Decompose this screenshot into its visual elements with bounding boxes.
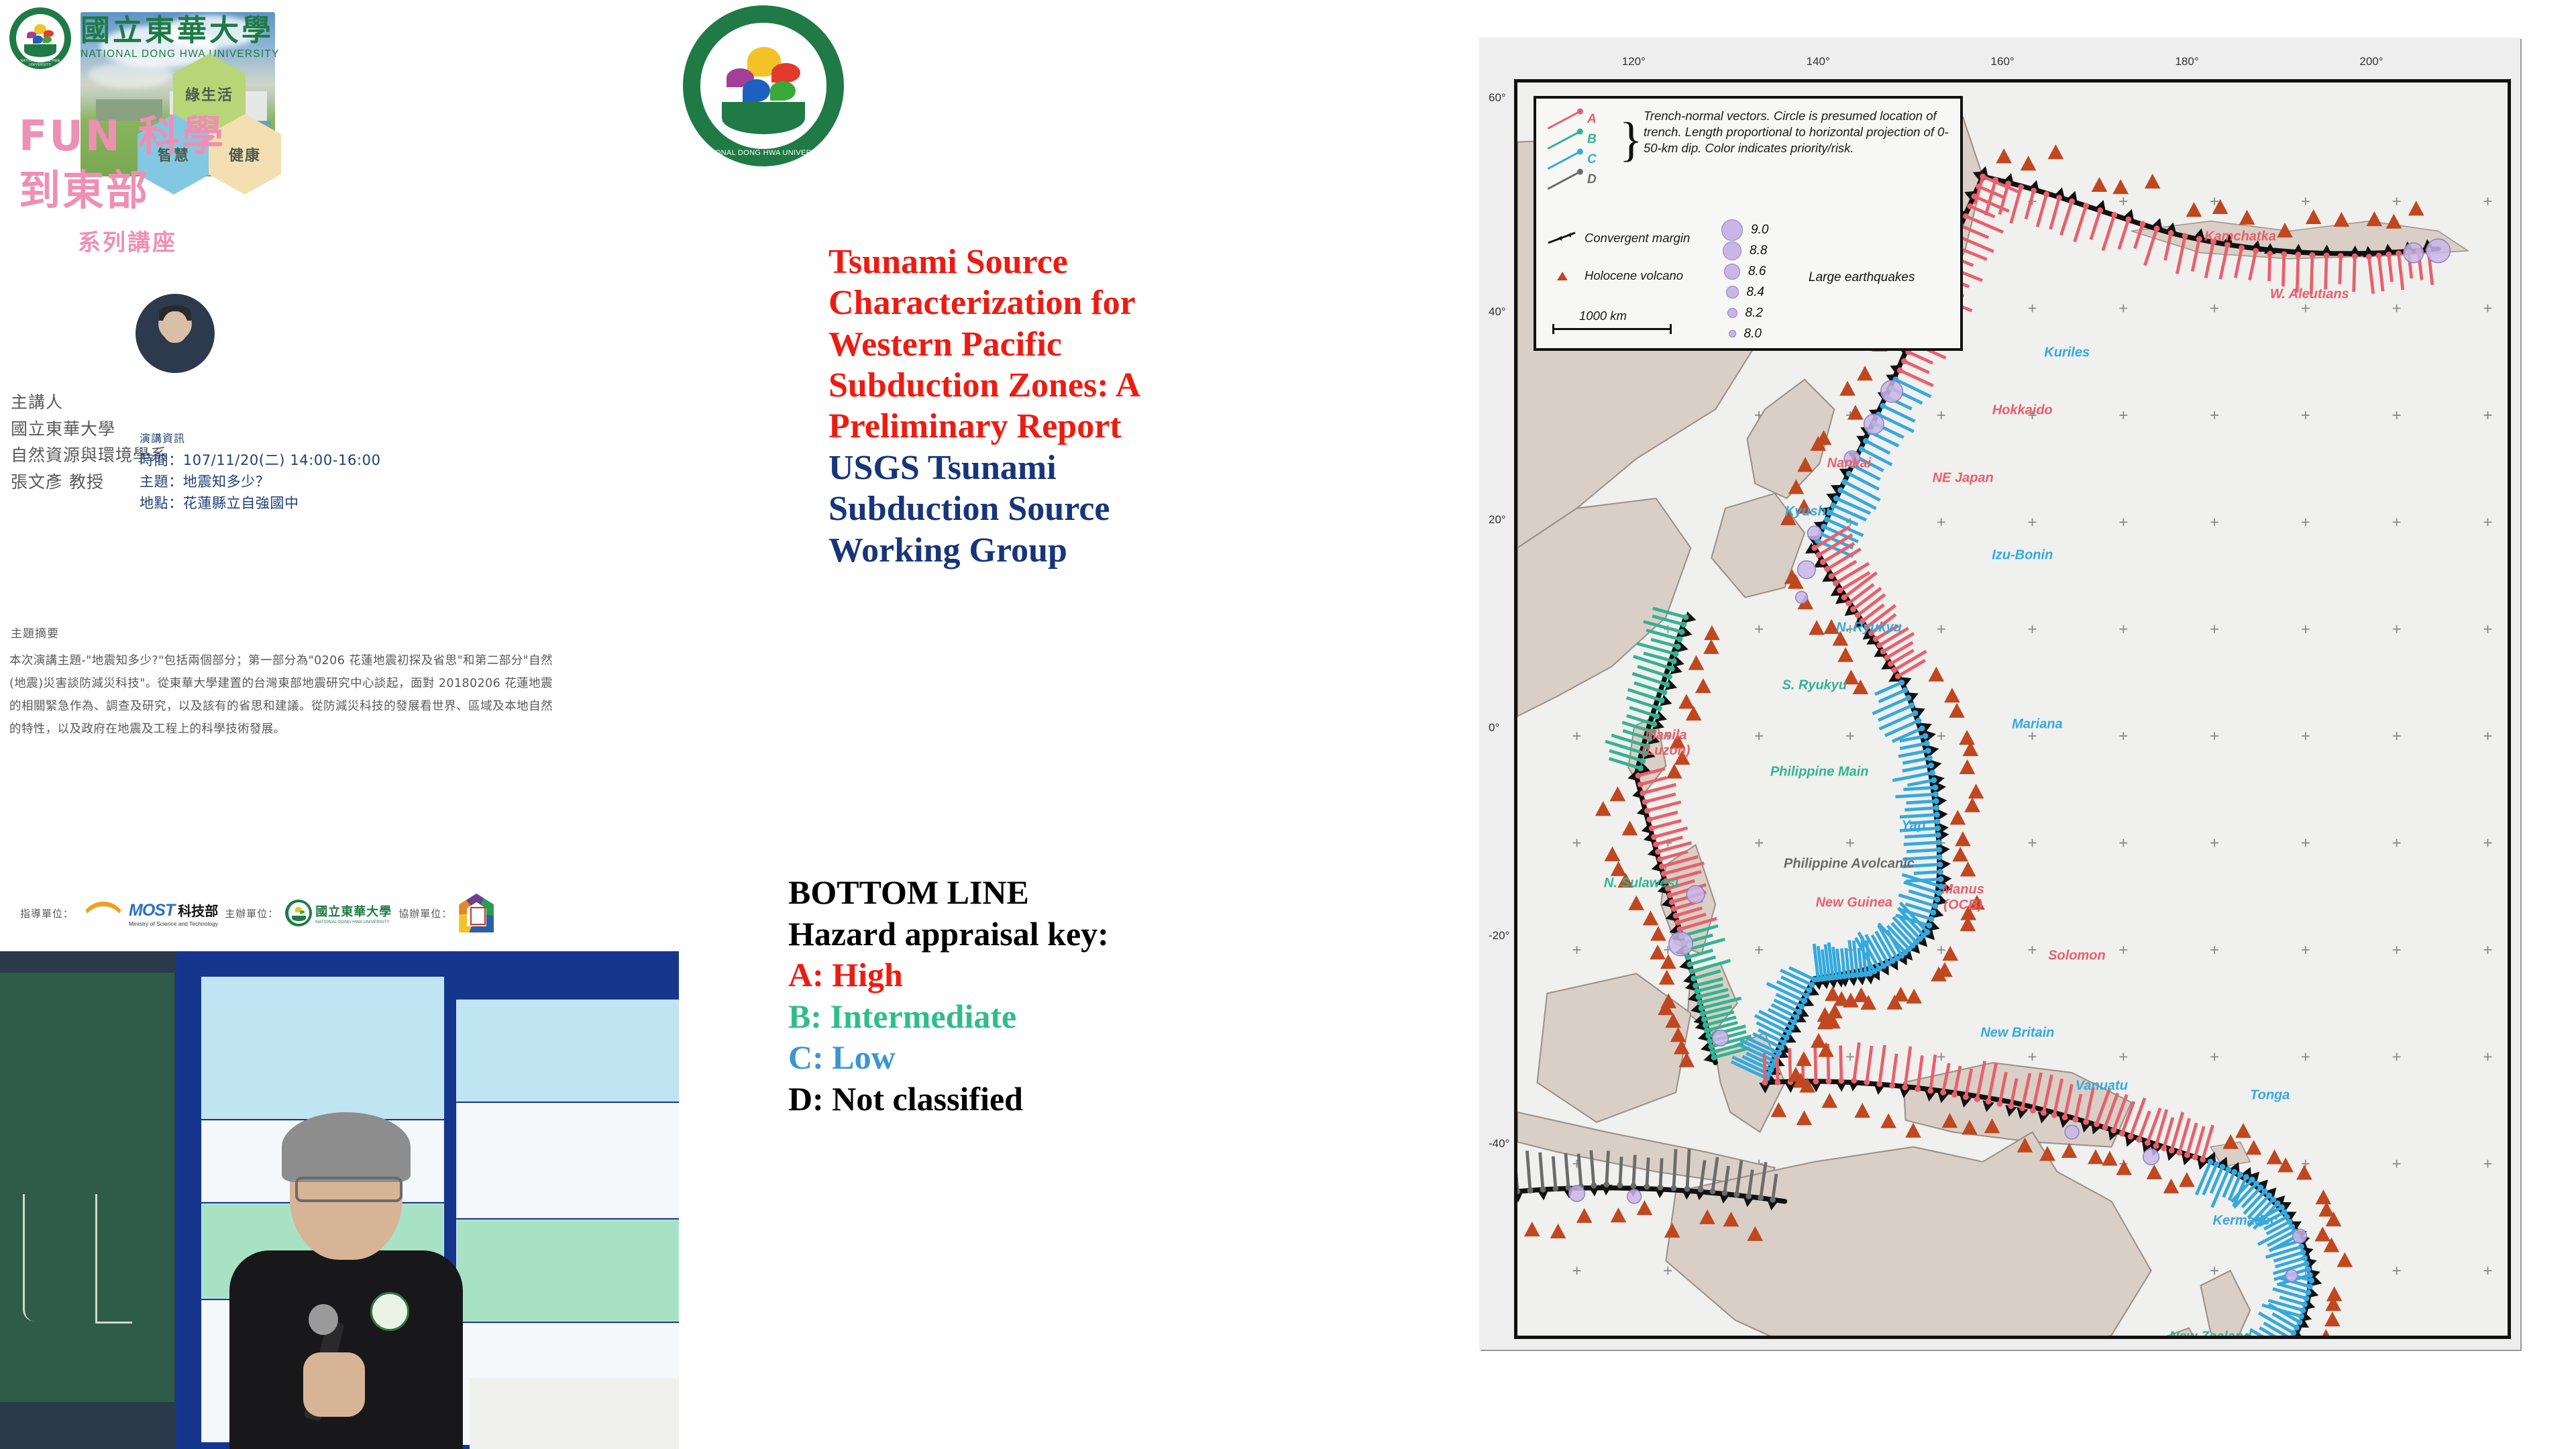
talk-info-block: 演講資訊 時間：107/11/20(二) 14:00-16:00 主題：地震知多… <box>140 429 394 515</box>
legend-class-b: B <box>1546 129 1621 150</box>
legend-large-earthquakes-label: Large earthquakes <box>1809 270 1915 285</box>
lon-tick: 200° <box>2359 55 2383 68</box>
guide-unit-label: 指導單位： <box>20 906 74 920</box>
legend-description: Trench-normal vectors. Circle is presume… <box>1644 108 1959 156</box>
poster-title-line1: FUN 科學 <box>19 114 327 158</box>
map-label: Mariana <box>2012 716 2063 732</box>
legend-class-a: A <box>1546 109 1621 129</box>
ndhu-seal-icon: NATIONAL DONG HWA UNIVERSITY <box>9 7 71 69</box>
hazard-key-row-c: C: Low <box>788 1037 1338 1079</box>
abstract-heading: 主題摘要 <box>11 624 59 641</box>
poster-panel <box>456 1103 679 1218</box>
legend-class-code: C <box>1587 152 1597 167</box>
map-label: W. Aleutians <box>2270 287 2349 303</box>
university-name-cn: 國立東華大學 <box>80 16 280 46</box>
hazard-code-c: C: <box>788 1038 824 1076</box>
lat-tick: 40° <box>1489 305 1506 319</box>
lon-tick: 180° <box>2175 55 2198 68</box>
title-line-2: Characterization for <box>828 282 1358 323</box>
hazard-label-d: Not classified <box>832 1080 1023 1118</box>
title-line-1: Tsunami Source <box>828 241 1358 282</box>
lat-tick: -20° <box>1489 929 1509 943</box>
sponsor-row: 指導單位： MOST 科技部 Ministry of Science and T… <box>20 892 678 934</box>
legend-magnitude-row: 8.0 <box>1721 323 1768 344</box>
poster-title-line3: 系列講座 <box>78 224 327 257</box>
subduction-zone-map-figure: 120°140°160°180°200° 60°40°20°0°-20°-40° <box>1479 38 2520 1350</box>
magnitude-value: 8.6 <box>1748 264 1766 279</box>
legend-class-d: D <box>1546 170 1621 190</box>
speaker-avatar <box>136 294 215 373</box>
talk-info-heading: 演講資訊 <box>140 429 394 445</box>
map-legend: A B C D } Trench-normal vectors. Circle … <box>1534 96 1963 351</box>
legend-magnitude-row: 8.8 <box>1721 240 1768 261</box>
subtitle-line-2: Subduction Source <box>828 488 1358 529</box>
host-logo: 國立東華大學 NATIONAL DONG HWA UNIVERSITY <box>285 900 392 926</box>
map-label: New Guinea <box>1816 895 1892 910</box>
seal-large-text: NATIONAL DONG HWA UNIVERSITY <box>683 149 844 157</box>
legend-class-code: A <box>1587 112 1597 127</box>
map-label: Kermadec <box>2213 1214 2278 1229</box>
hazard-code-a: A: <box>788 956 824 994</box>
legend-convergent-margin-label: Convergent margin <box>1585 230 1690 246</box>
magnitude-value: 8.2 <box>1746 306 1763 321</box>
bottom-line-heading: BOTTOM LINE <box>788 872 1338 914</box>
magnitude-circle-icon <box>1721 219 1743 241</box>
bottom-line-block: BOTTOM LINE Hazard appraisal key: A: Hig… <box>788 872 1338 1120</box>
legend-holocene-volcano-label: Holocene volcano <box>1585 268 1683 284</box>
map-label: N. Sulawesi <box>1604 875 1678 891</box>
magnitude-value: 8.4 <box>1747 285 1764 300</box>
hazard-label-b: Intermediate <box>830 998 1017 1035</box>
hazard-label-a: High <box>832 956 903 994</box>
magnitude-value: 9.0 <box>1751 223 1768 237</box>
map-label: Philippine Avolcanic <box>1784 857 1915 872</box>
cohost-unit-label: 協辦單位： <box>398 906 452 920</box>
hazard-code-b: B: <box>788 998 822 1035</box>
legend-scale-bar: 1000 km <box>1552 308 1672 330</box>
map-label: S. Ryukyu <box>1782 678 1847 693</box>
school-logo-icon <box>459 894 494 932</box>
map-label: Kuriles <box>2044 345 2090 360</box>
poster-panel <box>201 977 444 1119</box>
seal-text: NATIONAL DONG HWA UNIVERSITY <box>9 59 71 67</box>
whiteboard <box>470 1378 679 1449</box>
lon-tick: 140° <box>1807 55 1830 68</box>
hazard-key-row-a: A: High <box>788 955 1338 996</box>
map-label: Nankai <box>1827 456 1872 472</box>
shirt-badge-icon <box>370 1292 409 1331</box>
abstract-body: 本次演講主題-"地震知多少?"包括兩個部分；第一部分為"0206 花蓮地震初探及… <box>9 649 553 741</box>
legend-magnitude-row: 9.0 <box>1721 219 1768 240</box>
map-label: Manus(OCB) <box>1942 882 1984 913</box>
magnitude-circle-icon <box>1723 241 1741 260</box>
magnitude-value: 8.8 <box>1750 244 1767 258</box>
chalkboard <box>0 973 174 1402</box>
poster-title-line2: 到東部 <box>19 168 327 212</box>
map-label: NE Japan <box>1933 470 1994 486</box>
magnitude-circle-icon <box>1729 330 1736 337</box>
talk-place: 地點：花蓮縣立自強國中 <box>140 493 394 515</box>
magnitude-value: 8.0 <box>1744 327 1762 341</box>
volcano-icon <box>1557 272 1568 280</box>
hazard-key-row-b: B: Intermediate <box>788 996 1338 1038</box>
map-label: Vanuatu <box>2076 1078 2128 1093</box>
host-name-en: NATIONAL DONG HWA UNIVERSITY <box>315 920 392 924</box>
map-label: Kamchatka <box>2204 229 2276 245</box>
legend-brace-icon: } <box>1619 112 1643 168</box>
host-unit-label: 主辦單位： <box>225 906 278 920</box>
talk-time: 時間：107/11/20(二) 14:00-16:00 <box>140 450 394 472</box>
map-label: Izu-Bonin <box>1992 547 2053 563</box>
legend-magnitude-scale: 9.08.88.68.48.28.0 <box>1721 219 1768 344</box>
poster-panel <box>456 1220 679 1322</box>
subtitle-line-3: Working Group <box>828 530 1358 571</box>
map-label: New Britain <box>1980 1025 2054 1040</box>
legend-holocene-volcano: Holocene volcano <box>1547 268 1683 284</box>
poster-title: FUN 科學 到東部 系列講座 <box>19 114 327 257</box>
slide-title: Tsunami Source Characterization for West… <box>828 241 1358 571</box>
ndhu-seal-large-icon: NATIONAL DONG HWA UNIVERSITY <box>683 5 844 166</box>
legend-class-code: B <box>1587 132 1597 147</box>
lat-tick: 60° <box>1489 91 1506 105</box>
map-label: Manila(Luzon) <box>1642 728 1690 759</box>
map-label: N. Ryukyu <box>1836 620 1902 635</box>
presenter-figure <box>215 1119 470 1449</box>
seminar-poster: NATIONAL DONG HWA UNIVERSITY 國立東華大學 NATI… <box>0 0 691 953</box>
convergent-margin-icon <box>1547 231 1578 246</box>
map-label: Hokkaido <box>1992 403 2053 419</box>
legend-magnitude-row: 8.2 <box>1721 303 1768 323</box>
most-word: MOST <box>129 901 174 920</box>
legend-class-swatches: A B C D <box>1546 109 1621 190</box>
legend-class-c: C <box>1546 150 1621 170</box>
hazard-code-d: D: <box>788 1080 824 1118</box>
scale-bar-icon <box>1552 328 1672 330</box>
lat-tick: 0° <box>1489 721 1499 735</box>
title-line-4: Subduction Zones: A <box>828 365 1358 406</box>
map-label: Tonga <box>2250 1088 2290 1104</box>
magnitude-circle-icon <box>1724 264 1740 280</box>
poster-panel <box>456 1000 679 1102</box>
map-label: Solomon <box>2048 948 2106 963</box>
lon-tick: 120° <box>1622 55 1646 68</box>
most-logo: MOST 科技部 Ministry of Science and Technol… <box>80 900 218 927</box>
title-line-3: Western Pacific <box>828 324 1358 365</box>
lon-tick: 160° <box>1991 55 2015 68</box>
hazard-key-row-d: D: Not classified <box>788 1079 1338 1120</box>
lat-tick: -40° <box>1489 1137 1509 1150</box>
ndhu-seal-small-icon <box>285 900 312 926</box>
map-label: Kyushu <box>1785 504 1834 520</box>
hazard-key-heading: Hazard appraisal key: <box>788 914 1338 955</box>
map-plot-area: KamchatkaW. AleutiansKurilesHokkaidoNE J… <box>1514 79 2511 1339</box>
subtitle-line-1: USGS Tsunami <box>828 447 1358 488</box>
talk-topic: 主題：地震知多少？ <box>140 472 394 493</box>
hexagon-label: 綠生活 <box>185 83 233 105</box>
legend-magnitude-row: 8.4 <box>1721 282 1768 303</box>
lat-tick: 20° <box>1489 513 1506 527</box>
magnitude-circle-icon <box>1727 308 1737 318</box>
most-name-cn: 科技部 <box>178 900 218 920</box>
map-label: Yap <box>1901 818 1925 833</box>
magnitude-circle-icon <box>1726 286 1739 299</box>
map-label: Philippine Main <box>1770 765 1869 780</box>
legend-magnitude-row: 8.6 <box>1721 261 1768 282</box>
most-arc-icon <box>80 902 126 929</box>
hazard-label-c: Low <box>832 1038 895 1076</box>
speaker-heading: 主講人 <box>11 389 212 416</box>
speaker-video-still <box>0 951 679 1449</box>
scale-label: 1000 km <box>1552 308 1672 324</box>
most-name-en: Ministry of Science and Technology <box>129 920 218 927</box>
title-line-5: Preliminary Report <box>828 406 1358 447</box>
legend-class-code: D <box>1587 172 1597 187</box>
host-name-cn: 國立東華大學 <box>315 902 392 920</box>
ndhu-logo: NATIONAL DONG HWA UNIVERSITY 國立東華大學 NATI… <box>9 5 331 71</box>
legend-convergent-margin: Convergent margin <box>1547 230 1690 246</box>
university-name-en: NATIONAL DONG HWA UNIVERSITY <box>80 48 280 60</box>
map-label: New Zealand <box>2169 1329 2251 1339</box>
